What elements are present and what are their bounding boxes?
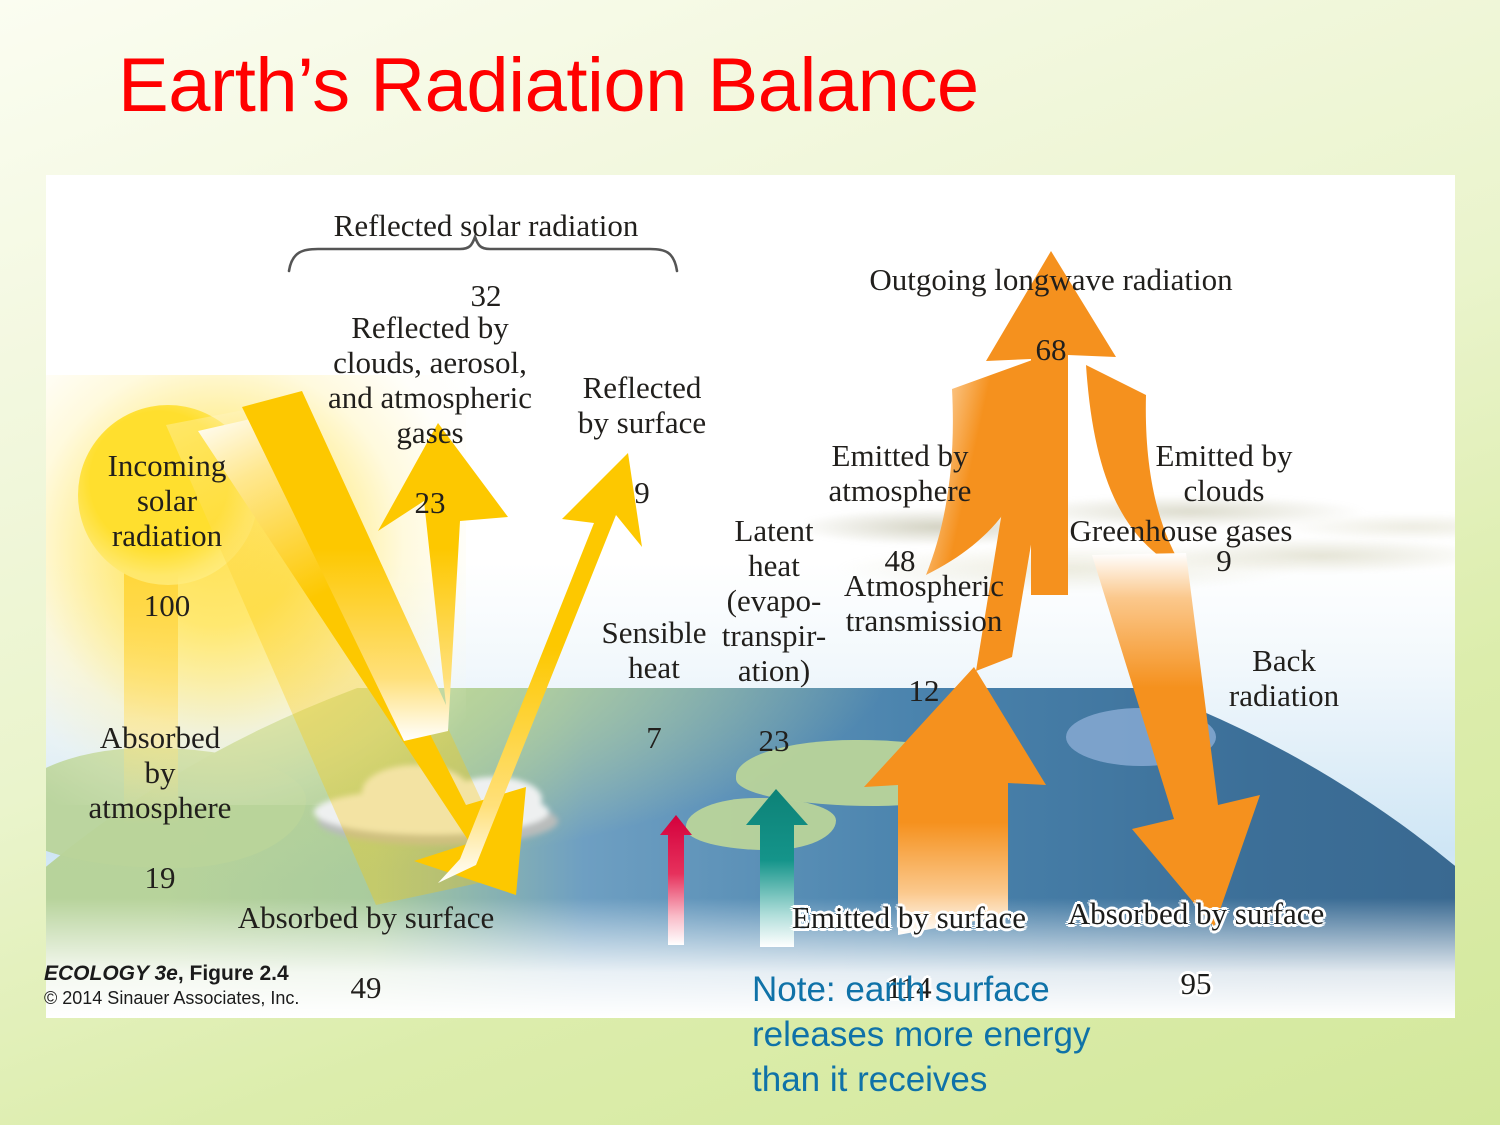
label-back-radiation: Back radiation xyxy=(1194,643,1374,713)
label-greenhouse-gases: Greenhouse gases xyxy=(1016,513,1346,548)
label-incoming-solar: Incoming solar radiation 100 xyxy=(58,413,276,623)
label-outgoing-longwave: Outgoing longwave radiation 68 xyxy=(816,227,1286,367)
label-reflected-clouds: Reflected by clouds, aerosol, and atmosp… xyxy=(296,275,564,520)
radiation-balance-figure: Reflected solar radiation 32 Reflected b… xyxy=(46,175,1455,1018)
credit-book-title: ECOLOGY 3e xyxy=(44,962,178,985)
label-emitted-atmosphere: Emitted by atmosphere 48 xyxy=(786,403,1014,578)
credit-source-line: ECOLOGY 3e, Figure 2.4 xyxy=(44,962,299,986)
sensible-heat-arrow xyxy=(660,815,692,945)
credit-copyright: © 2014 Sinauer Associates, Inc. xyxy=(44,988,299,1009)
label-absorbed-surface-lw: Absorbed by surface 95 xyxy=(1046,861,1346,1001)
note-text: Note: earth surface releases more energy… xyxy=(752,968,1091,1102)
figure-credit: ECOLOGY 3e, Figure 2.4 © 2014 Sinauer As… xyxy=(44,962,299,1009)
page-title: Earth’s Radiation Balance xyxy=(118,46,979,126)
label-absorbed-atmosphere: Absorbed by atmosphere 19 xyxy=(50,685,270,895)
credit-figure-number: , Figure 2.4 xyxy=(178,962,289,985)
label-emitted-clouds: Emitted by clouds 9 xyxy=(1124,403,1324,578)
